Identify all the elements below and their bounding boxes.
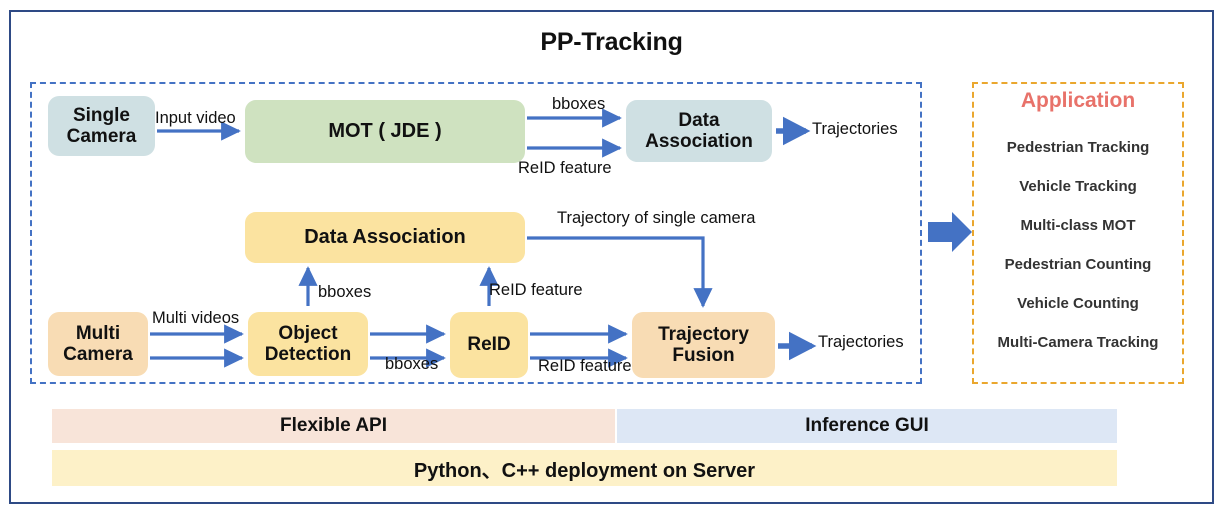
node-data-association-single-label: Data Association [645, 110, 753, 153]
node-object-detection[interactable]: Object Detection [248, 312, 368, 376]
bar-inference-gui[interactable]: Inference GUI [617, 409, 1117, 443]
node-label-line2: Fusion [672, 345, 734, 366]
node-label-line1: Trajectory [658, 324, 749, 345]
application-item-vehicle-tracking[interactable]: Vehicle Tracking [972, 167, 1184, 206]
application-item-multi-class-mot[interactable]: Multi-class MOT [972, 206, 1184, 245]
node-trajectory-fusion[interactable]: Trajectory Fusion [632, 312, 775, 378]
application-title: Application [972, 89, 1184, 113]
edge-label-bboxes-detection-to-association: bboxes [318, 283, 371, 302]
edge-label-reid-feature-reid-to-fusion: ReID feature [538, 357, 632, 376]
bar-flexible-api[interactable]: Flexible API [52, 409, 615, 443]
edge-label-bboxes-detection-to-reid: bboxes [385, 355, 438, 374]
edge-label-multi-videos: Multi videos [152, 309, 239, 328]
node-mot-jde-label: MOT ( JDE ) [328, 120, 441, 142]
node-label-line1: Data [678, 110, 719, 131]
node-label-line2: Detection [265, 344, 352, 365]
node-label-line1: Single [73, 105, 130, 126]
bar-inference-gui-label: Inference GUI [805, 415, 929, 437]
application-item-vehicle-counting[interactable]: Vehicle Counting [972, 284, 1184, 323]
node-mot-jde[interactable]: MOT ( JDE ) [245, 100, 525, 163]
node-multi-camera-label: Multi Camera [63, 323, 133, 366]
node-data-association-multi[interactable]: Data Association [245, 212, 525, 263]
node-label-line2: Camera [67, 126, 137, 147]
application-item-multi-camera-tracking[interactable]: Multi-Camera Tracking [972, 323, 1184, 362]
node-multi-camera[interactable]: Multi Camera [48, 312, 148, 376]
node-reid-label: ReID [467, 334, 510, 355]
application-item-pedestrian-counting[interactable]: Pedestrian Counting [972, 245, 1184, 284]
node-data-association-multi-label: Data Association [304, 226, 466, 248]
node-label-line2: Camera [63, 344, 133, 365]
node-object-detection-label: Object Detection [265, 323, 352, 366]
diagram-canvas: PP-Tracking [0, 0, 1224, 514]
edge-label-input-video: Input video [155, 109, 236, 128]
node-single-camera-label: Single Camera [67, 105, 137, 148]
node-label-line1: Multi [76, 323, 120, 344]
node-label-line1: Object [278, 323, 337, 344]
bar-flexible-api-label: Flexible API [280, 415, 387, 437]
edge-label-bboxes-mot-to-association: bboxes [552, 95, 605, 114]
bar-deployment-label: Python、C++ deployment on Server [414, 454, 755, 483]
node-trajectory-fusion-label: Trajectory Fusion [658, 324, 749, 367]
bar-deployment[interactable]: Python、C++ deployment on Server [52, 450, 1117, 486]
page-title: PP-Tracking [9, 28, 1214, 57]
edge-label-reid-feature-mot-to-association: ReID feature [518, 159, 612, 178]
edge-label-trajectory-of-single-camera: Trajectory of single camera [557, 209, 755, 228]
application-item-pedestrian-tracking[interactable]: Pedestrian Tracking [972, 128, 1184, 167]
edge-label-reid-feature-reid-to-association: ReID feature [489, 281, 583, 300]
application-list: Pedestrian Tracking Vehicle Tracking Mul… [972, 128, 1184, 362]
edge-label-trajectories-single-camera: Trajectories [812, 120, 898, 139]
node-label-line2: Association [645, 131, 753, 152]
node-data-association-single[interactable]: Data Association [626, 100, 772, 162]
edge-label-trajectories-multi-camera: Trajectories [818, 333, 904, 352]
node-single-camera[interactable]: Single Camera [48, 96, 155, 156]
node-reid[interactable]: ReID [450, 312, 528, 378]
